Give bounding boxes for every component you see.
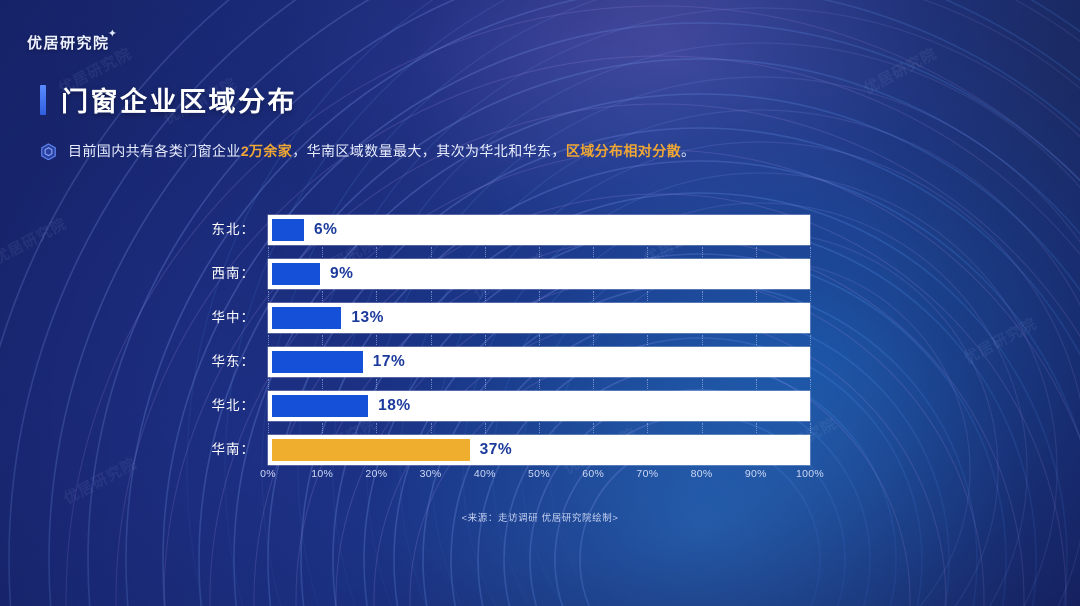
bar-track: 13% <box>268 303 810 333</box>
gridline-tick <box>485 335 486 345</box>
category-label: 西南： <box>195 259 255 289</box>
chart-x-axis: 0%10%20%30%40%50%60%70%80%90%100% <box>268 468 810 486</box>
title-accent-bar <box>40 85 46 115</box>
gridline-tick <box>702 423 703 433</box>
gridline-tick <box>756 247 757 257</box>
gridline-tick <box>431 247 432 257</box>
x-tick-label: 40% <box>474 468 496 480</box>
gridline-tick <box>485 247 486 257</box>
gridline-tick <box>702 379 703 389</box>
x-tick-label: 90% <box>745 468 767 480</box>
bar-segment <box>272 395 368 417</box>
subtitle-text: 目前国内共有各类门窗企业2万余家，华南区域数量最大，其次为华北和华东，区域分布相… <box>68 141 695 161</box>
subtitle-row: 目前国内共有各类门窗企业2万余家，华南区域数量最大，其次为华北和华东，区域分布相… <box>41 141 695 161</box>
category-label: 华北： <box>195 391 255 421</box>
bar-segment <box>272 351 363 373</box>
gridline-tick <box>810 423 811 433</box>
x-tick-label: 10% <box>311 468 333 480</box>
watermark: 优居研究院 <box>960 312 1041 368</box>
x-tick-label: 0% <box>260 468 276 480</box>
gridline-tick <box>593 423 594 433</box>
x-tick-label: 30% <box>420 468 442 480</box>
gridline-tick <box>756 423 757 433</box>
bar-segment <box>272 219 304 241</box>
gridline-tick <box>810 247 811 257</box>
gridline-tick <box>539 247 540 257</box>
bar-track: 9% <box>268 259 810 289</box>
gridline-tick <box>810 379 811 389</box>
bar-value-label: 37% <box>480 435 513 465</box>
brand-logo: 优居研究院 ✦ <box>27 32 110 53</box>
gridline-tick <box>376 335 377 345</box>
gridline-tick <box>593 335 594 345</box>
subtitle-segment-3: 区域分布相对分散 <box>566 143 681 159</box>
category-label: 华南： <box>195 435 255 465</box>
bar-track: 6% <box>268 215 810 245</box>
category-label: 华东： <box>195 347 255 377</box>
gridline-tick <box>702 335 703 345</box>
chart-row: 华中：13% <box>195 303 810 333</box>
gridline-tick <box>322 335 323 345</box>
gridline-tick <box>593 247 594 257</box>
gridline-tick <box>647 379 648 389</box>
gridline-tick <box>539 379 540 389</box>
gridline-tick <box>485 423 486 433</box>
gridline-tick <box>431 335 432 345</box>
gridline-tick <box>539 335 540 345</box>
gridline-tick <box>376 291 377 301</box>
gridline-tick <box>268 247 269 257</box>
hexagon-icon <box>41 143 56 160</box>
bar-value-label: 6% <box>314 215 337 245</box>
subtitle-segment-1: 2万余家 <box>241 143 292 159</box>
gridline-tick <box>702 247 703 257</box>
chart-row: 华南：37% <box>195 435 810 465</box>
bar-track: 17% <box>268 347 810 377</box>
gridline-tick <box>485 291 486 301</box>
gridline-tick <box>268 291 269 301</box>
gridline-tick <box>485 379 486 389</box>
gridline-tick <box>647 423 648 433</box>
x-tick-label: 100% <box>796 468 824 480</box>
bar-value-label: 13% <box>351 303 384 333</box>
chart-row: 华东：17% <box>195 347 810 377</box>
gridline-tick <box>756 291 757 301</box>
bar-value-label: 9% <box>330 259 353 289</box>
subtitle-segment-4: 。 <box>681 143 695 159</box>
gridline-tick <box>647 247 648 257</box>
gridline-tick <box>268 423 269 433</box>
sparkle-icon: ✦ <box>108 27 119 40</box>
gridline-tick <box>268 335 269 345</box>
gridline-tick <box>431 423 432 433</box>
page-title-text: 门窗企业区域分布 <box>61 80 297 119</box>
category-label: 华中： <box>195 303 255 333</box>
x-tick-label: 80% <box>691 468 713 480</box>
source-note: <来源：走访调研 优居研究院绘制> <box>0 510 1080 524</box>
brand-logo-text: 优居研究院 <box>27 35 110 52</box>
subtitle-segment-2: ，华南区域数量最大，其次为华北和华东， <box>292 143 566 159</box>
bar-track: 37% <box>268 435 810 465</box>
gridline-tick <box>376 247 377 257</box>
gridline-tick <box>539 291 540 301</box>
bar-segment <box>272 263 320 285</box>
gridline-tick <box>431 379 432 389</box>
gridline-tick <box>431 291 432 301</box>
gridline-tick <box>322 379 323 389</box>
gridline-tick <box>756 335 757 345</box>
gridline-tick <box>810 335 811 345</box>
gridline-tick <box>647 291 648 301</box>
x-tick-label: 20% <box>365 468 387 480</box>
bar-segment <box>272 307 341 329</box>
category-label: 东北： <box>195 215 255 245</box>
chart-row: 华北：18% <box>195 391 810 421</box>
chart-row: 东北：6% <box>195 215 810 245</box>
subtitle-segment-0: 目前国内共有各类门窗企业 <box>68 143 241 159</box>
bar-chart: 东北：6%西南：9%华中：13%华东：17%华北：18%华南：37% 0%10%… <box>195 215 885 490</box>
x-tick-label: 70% <box>636 468 658 480</box>
watermark: 优居研究院 <box>60 452 141 508</box>
gridline-tick <box>376 423 377 433</box>
bar-value-label: 18% <box>378 391 411 421</box>
bar-value-label: 17% <box>373 347 406 377</box>
gridline-tick <box>539 423 540 433</box>
gridline-tick <box>702 291 703 301</box>
gridline-tick <box>322 247 323 257</box>
gridline-tick <box>322 423 323 433</box>
gridline-tick <box>593 379 594 389</box>
gridline-tick <box>810 291 811 301</box>
x-tick-label: 50% <box>528 468 550 480</box>
page-title: 门窗企业区域分布 <box>40 80 297 119</box>
gridline-tick <box>268 379 269 389</box>
gridline-tick <box>376 379 377 389</box>
gridline-tick <box>322 291 323 301</box>
watermark: 优居研究院 <box>0 212 70 268</box>
bar-track: 18% <box>268 391 810 421</box>
watermark: 优居研究院 <box>860 42 941 98</box>
chart-row: 西南：9% <box>195 259 810 289</box>
slide-canvas: 优居研究院 优居研究院 优居研究院 优居研究院 优居研究院 优居研究院 优居研究… <box>0 0 1080 606</box>
gridline-tick <box>756 379 757 389</box>
gridline-tick <box>593 291 594 301</box>
x-tick-label: 60% <box>582 468 604 480</box>
bar-segment <box>272 439 470 461</box>
gridline-tick <box>647 335 648 345</box>
